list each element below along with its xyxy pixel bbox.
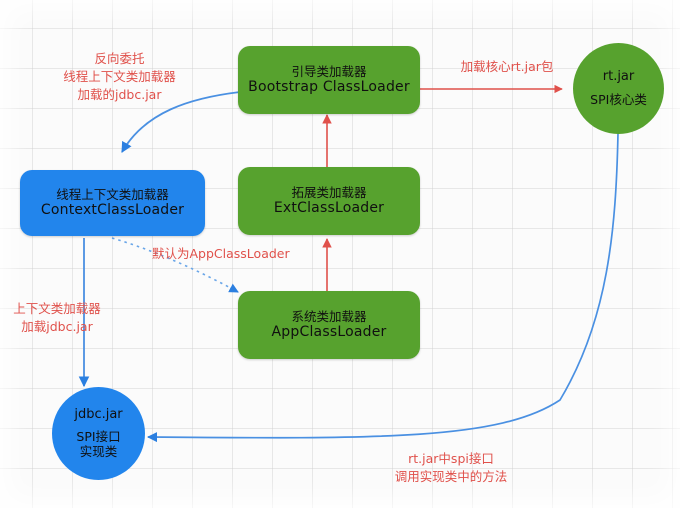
annotation-default-app-classloader: 默认为AppClassLoader [152,245,322,263]
node-bootstrap-classloader[interactable]: 引导类加载器 Bootstrap ClassLoader [238,46,420,114]
node-jdbcjar-title: jdbc.jar [74,407,122,423]
node-ext-cn: 拓展类加载器 [291,185,366,200]
annotation-context-loads-jdbc-line1: 上下文类加载器 [2,300,112,318]
annotation-reverse-delegate-line2: 线程上下文类加载器 [32,68,207,86]
node-context-cn: 线程上下文类加载器 [56,187,169,202]
diagram-canvas: 引导类加载器 Bootstrap ClassLoader 拓展类加载器 ExtC… [0,0,680,508]
node-context-en: ContextClassLoader [41,202,184,219]
node-jdbc-jar[interactable]: jdbc.jar SPI接口 实现类 [52,387,145,480]
node-bootstrap-cn: 引导类加载器 [291,64,366,79]
node-rt-jar[interactable]: rt.jar SPI核心类 [573,43,664,134]
annotation-default-app-text: 默认为AppClassLoader [152,245,322,263]
node-ext-classloader[interactable]: 拓展类加载器 ExtClassLoader [238,167,420,235]
node-rtjar-title: rt.jar [603,69,635,85]
node-app-classloader[interactable]: 系统类加载器 AppClassLoader [238,291,420,359]
node-jdbcjar-line3: 实现类 [80,444,118,459]
annotation-spi-call-line1: rt.jar中spi接口 [361,450,541,468]
annotation-reverse-delegate: 反向委托 线程上下文类加载器 加载的jdbc.jar [32,50,207,104]
annotation-spi-call-line2: 调用实现类中的方法 [361,468,541,486]
annotation-reverse-delegate-line1: 反向委托 [32,50,207,68]
node-bootstrap-en: Bootstrap ClassLoader [248,79,410,96]
annotation-spi-call: rt.jar中spi接口 调用实现类中的方法 [361,450,541,486]
node-rtjar-line2: SPI核心类 [590,92,647,107]
node-jdbcjar-line2: SPI接口 [76,429,120,444]
annotation-reverse-delegate-line3: 加载的jdbc.jar [32,86,207,104]
annotation-load-rtjar-text: 加载核心rt.jar包 [437,58,577,76]
annotation-context-loads-jdbc-line2: 加载jdbc.jar [2,318,112,336]
annotation-load-rtjar: 加载核心rt.jar包 [437,58,577,76]
node-context-classloader[interactable]: 线程上下文类加载器 ContextClassLoader [20,170,205,236]
annotation-context-loads-jdbc: 上下文类加载器 加载jdbc.jar [2,300,112,336]
node-app-en: AppClassLoader [272,324,387,341]
node-app-cn: 系统类加载器 [291,309,366,324]
node-ext-en: ExtClassLoader [274,200,384,217]
